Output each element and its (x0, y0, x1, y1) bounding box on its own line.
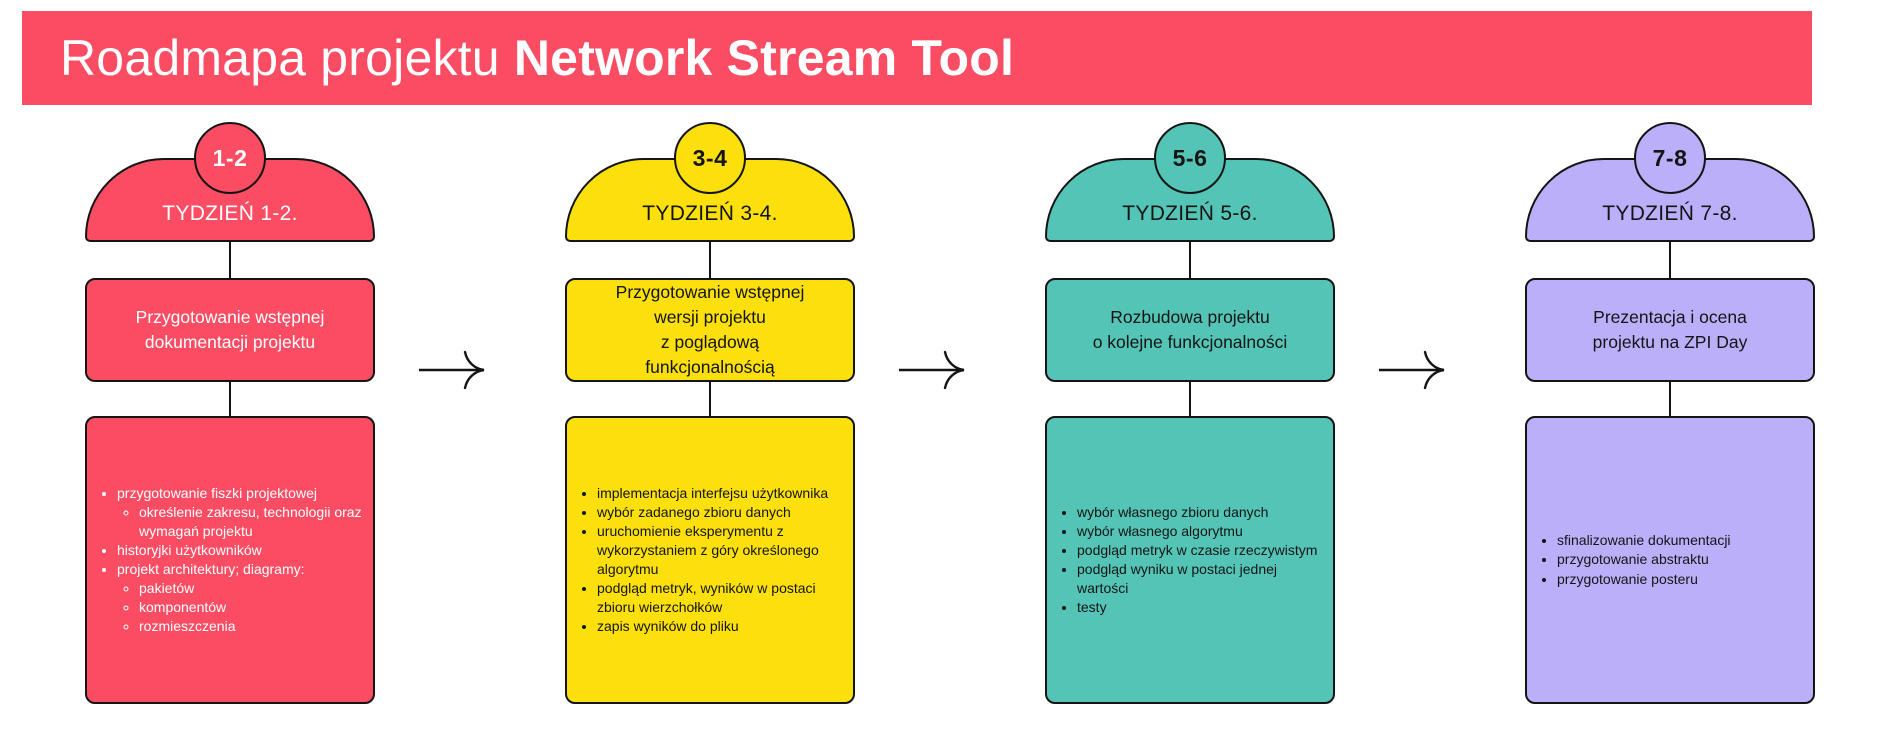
phase-tasks-box: sfinalizowanie dokumentacjiprzygotowanie… (1525, 416, 1815, 704)
page-title: Roadmapa projektu Network Stream Tool (60, 29, 1014, 87)
connector-line (709, 240, 711, 282)
task-item: sfinalizowanie dokumentacji (1557, 531, 1805, 550)
task-item: wybór własnego algorytmu (1077, 522, 1325, 541)
connector-line (1189, 378, 1191, 420)
connector-line (229, 378, 231, 420)
week-badge: 7-8 (1634, 122, 1706, 194)
task-item: podgląd metryk, wyników w postaci zbioru… (597, 579, 845, 617)
task-item: przygotowanie posteru (1557, 570, 1805, 589)
phase-tasks-box: implementacja interfejsu użytkownikawybó… (565, 416, 855, 704)
phase-header-label: TYDZIEŃ 5-6. (1122, 202, 1257, 226)
connector-line (229, 240, 231, 282)
week-badge: 3-4 (674, 122, 746, 194)
arrow-right-icon (415, 348, 495, 392)
task-subitem: określenie zakresu, technologii oraz wym… (139, 503, 365, 541)
arrow-right-icon (1375, 348, 1455, 392)
phase-description-box: Przygotowanie wstępnejdokumentacji proje… (85, 278, 375, 382)
week-badge: 5-6 (1154, 122, 1226, 194)
phase-tasks-box: przygotowanie fiszki projektowejokreślen… (85, 416, 375, 704)
task-item: przygotowanie abstraktu (1557, 550, 1805, 569)
arrow-right-icon (895, 348, 975, 392)
task-item: testy (1077, 598, 1325, 617)
task-list: implementacja interfejsu użytkownikawybó… (571, 484, 845, 636)
task-sublist: pakietówkomponentówrozmieszczenia (117, 579, 365, 636)
phase-description-box: Prezentacja i ocenaprojektu na ZPI Day (1525, 278, 1815, 382)
task-item: wybór zadanego zbioru danych (597, 503, 845, 522)
phase-description-text: Rozbudowa projektuo kolejne funkcjonalno… (1093, 305, 1288, 355)
title-banner: Roadmapa projektu Network Stream Tool (22, 11, 1812, 105)
connector-line (1669, 240, 1671, 282)
task-item: podgląd wyniku w postaci jednej wartości (1077, 560, 1325, 598)
connector-line (709, 378, 711, 420)
phase-description-text: Przygotowanie wstępnejwersji projektuz p… (616, 280, 805, 379)
task-item: projekt architektury; diagramy:pakietówk… (117, 560, 365, 636)
page-title-emphasis: Network Stream Tool (514, 30, 1014, 86)
task-item: implementacja interfejsu użytkownika (597, 484, 845, 503)
page-title-prefix: Roadmapa projektu (60, 30, 514, 86)
task-list: przygotowanie fiszki projektowejokreślen… (91, 484, 365, 636)
task-item: podgląd metryk w czasie rzeczywistym (1077, 541, 1325, 560)
connector-line (1189, 240, 1191, 282)
task-list: wybór własnego zbioru danychwybór własne… (1051, 503, 1325, 617)
task-item: przygotowanie fiszki projektowejokreślen… (117, 484, 365, 541)
phase-tasks-box: wybór własnego zbioru danychwybór własne… (1045, 416, 1335, 704)
phase-description-box: Przygotowanie wstępnejwersji projektuz p… (565, 278, 855, 382)
connector-line (1669, 378, 1671, 420)
task-subitem: rozmieszczenia (139, 617, 365, 636)
task-sublist: określenie zakresu, technologii oraz wym… (117, 503, 365, 541)
phase-header-label: TYDZIEŃ 7-8. (1602, 202, 1737, 226)
task-item: uruchomienie eksperymentu z wykorzystani… (597, 522, 845, 579)
phase-description-box: Rozbudowa projektuo kolejne funkcjonalno… (1045, 278, 1335, 382)
task-list: sfinalizowanie dokumentacjiprzygotowanie… (1531, 531, 1805, 588)
phase-description-text: Prezentacja i ocenaprojektu na ZPI Day (1593, 305, 1748, 355)
roadmap-timeline: TYDZIEŃ 1-2.1-2Przygotowanie wstępnejdok… (0, 110, 1890, 735)
phase-header-label: TYDZIEŃ 3-4. (642, 202, 777, 226)
week-badge: 1-2 (194, 122, 266, 194)
task-item: zapis wyników do pliku (597, 617, 845, 636)
phase-header-label: TYDZIEŃ 1-2. (162, 202, 297, 226)
phase-description-text: Przygotowanie wstępnejdokumentacji proje… (136, 305, 325, 355)
task-subitem: komponentów (139, 598, 365, 617)
task-subitem: pakietów (139, 579, 365, 598)
task-item: wybór własnego zbioru danych (1077, 503, 1325, 522)
task-item: historyjki użytkowników (117, 541, 365, 560)
